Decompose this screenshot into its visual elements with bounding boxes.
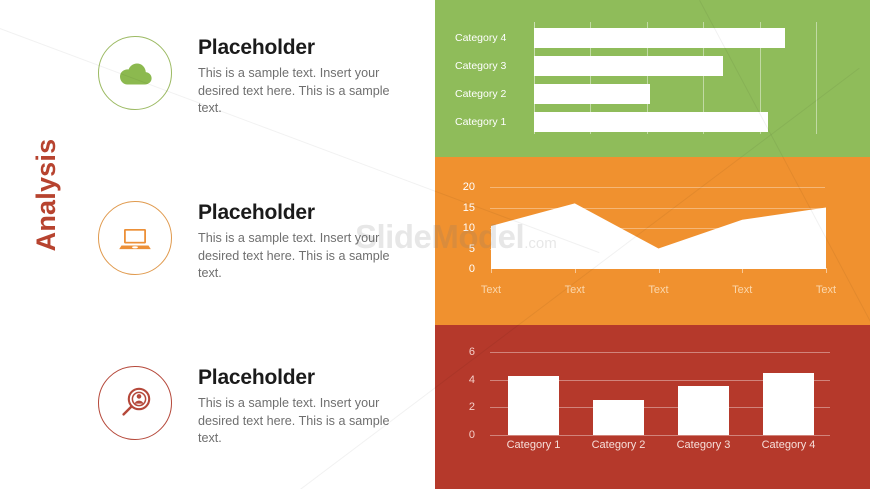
bar-column	[593, 400, 644, 435]
axis-tick	[575, 268, 576, 273]
feature-row[interactable]: Placeholder This is a sample text. Inser…	[0, 366, 435, 486]
feature-icon-wrap[interactable]	[98, 366, 176, 444]
feature-text-block: Placeholder This is a sample text. Inser…	[198, 366, 403, 448]
bar-category-label: Category 3	[455, 52, 530, 80]
feature-icon-wrap[interactable]	[98, 36, 176, 114]
feature-body-text: This is a sample text. Insert your desir…	[198, 395, 403, 448]
bar-segment	[534, 112, 768, 132]
bar-column	[678, 386, 729, 435]
gridline	[490, 435, 830, 436]
cloud-icon	[98, 36, 172, 110]
bar-row: Category 2	[435, 80, 870, 108]
bar-category-label: Category 4	[744, 437, 834, 453]
bar-category-label: Category 2	[455, 80, 530, 108]
bar-segment	[534, 28, 785, 48]
bar-row: Category 4	[435, 24, 870, 52]
feature-heading: Placeholder	[198, 201, 403, 225]
axis-tick	[742, 268, 743, 273]
y-tick-label: 2	[445, 400, 475, 414]
y-tick-label: 4	[445, 373, 475, 387]
left-content-panel: Analysis Placeholder This is a sample te…	[0, 0, 435, 489]
x-tick-label: Text	[550, 282, 600, 298]
magnifier-person-icon	[98, 366, 172, 440]
axis-tick	[491, 268, 492, 273]
bar-category-label: Category 2	[574, 437, 664, 453]
feature-row[interactable]: Placeholder This is a sample text. Inser…	[0, 201, 435, 321]
feature-heading: Placeholder	[198, 366, 403, 390]
bar-category-label: Category 4	[455, 24, 530, 52]
column-bar-chart[interactable]: 0246 Category 1Category 2Category 3Categ…	[435, 325, 870, 489]
orange-chart-panel: 05101520 TextTextTextTextText	[435, 157, 870, 325]
x-tick-label: Text	[717, 282, 767, 298]
bar-category-label: Category 1	[455, 108, 530, 136]
feature-body-text: This is a sample text. Insert your desir…	[198, 230, 403, 283]
bar-segment	[534, 56, 723, 76]
feature-body-text: This is a sample text. Insert your desir…	[198, 65, 403, 118]
axis-tick	[826, 268, 827, 273]
x-tick-label: Text	[634, 282, 684, 298]
axis-tick	[659, 268, 660, 273]
charts-column: Category 4Category 3Category 2Category 1…	[435, 0, 870, 489]
bar-row: Category 1	[435, 108, 870, 136]
y-tick-label: 0	[445, 428, 475, 442]
x-tick-label: Text	[801, 282, 851, 298]
red-chart-panel: 0246 Category 1Category 2Category 3Categ…	[435, 325, 870, 489]
y-tick-label: 6	[445, 345, 475, 359]
area-chart[interactable]: 05101520 TextTextTextTextText	[435, 157, 870, 325]
bar-segment	[534, 84, 650, 104]
bar-column	[763, 373, 814, 435]
feature-heading: Placeholder	[198, 36, 403, 60]
slide-canvas: Analysis Placeholder This is a sample te…	[0, 0, 870, 489]
bar-category-label: Category 1	[489, 437, 579, 453]
feature-text-block: Placeholder This is a sample text. Inser…	[198, 201, 403, 283]
feature-row[interactable]: Placeholder This is a sample text. Inser…	[0, 36, 435, 156]
feature-text-block: Placeholder This is a sample text. Inser…	[198, 36, 403, 118]
bar-column	[508, 376, 559, 435]
bar-row: Category 3	[435, 52, 870, 80]
green-chart-panel: Category 4Category 3Category 2Category 1	[435, 0, 870, 157]
area-series-shape	[435, 157, 870, 325]
bar-category-label: Category 3	[659, 437, 749, 453]
horizontal-bar-chart[interactable]: Category 4Category 3Category 2Category 1	[435, 0, 870, 157]
gridline	[490, 352, 830, 353]
feature-icon-wrap[interactable]	[98, 201, 176, 279]
x-tick-label: Text	[466, 282, 516, 298]
laptop-icon	[98, 201, 172, 275]
